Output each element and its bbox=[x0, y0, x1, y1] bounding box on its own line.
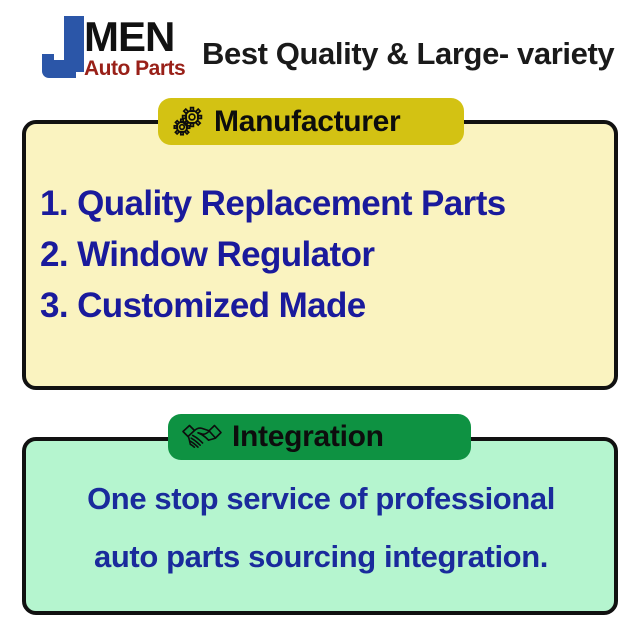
logo-j-mark-icon bbox=[42, 16, 90, 78]
description-line: One stop service of professional bbox=[36, 470, 606, 528]
page-header: MEN Auto Parts Best Quality & Large- var… bbox=[0, 0, 640, 92]
handshake-icon bbox=[180, 421, 224, 453]
manufacturer-list: 1. Quality Replacement Parts 2. Window R… bbox=[40, 178, 600, 331]
manufacturer-badge: Manufacturer bbox=[158, 98, 464, 145]
list-item: 2. Window Regulator bbox=[40, 229, 600, 280]
logo-brand-subtitle: Auto Parts bbox=[84, 58, 185, 79]
logo-brand-name: MEN bbox=[84, 16, 174, 58]
logo-j-hook-riser bbox=[42, 54, 54, 68]
integration-badge: Integration bbox=[168, 414, 471, 460]
list-item: 1. Quality Replacement Parts bbox=[40, 178, 600, 229]
header-tagline: Best Quality & Large- variety bbox=[202, 36, 614, 72]
gears-icon bbox=[170, 105, 206, 139]
integration-description: One stop service of professional auto pa… bbox=[36, 470, 606, 586]
brand-logo: MEN Auto Parts bbox=[42, 14, 194, 80]
list-item: 3. Customized Made bbox=[40, 280, 600, 331]
integration-badge-label: Integration bbox=[232, 420, 384, 454]
manufacturer-badge-label: Manufacturer bbox=[214, 105, 400, 139]
description-line: auto parts sourcing integration. bbox=[36, 528, 606, 586]
